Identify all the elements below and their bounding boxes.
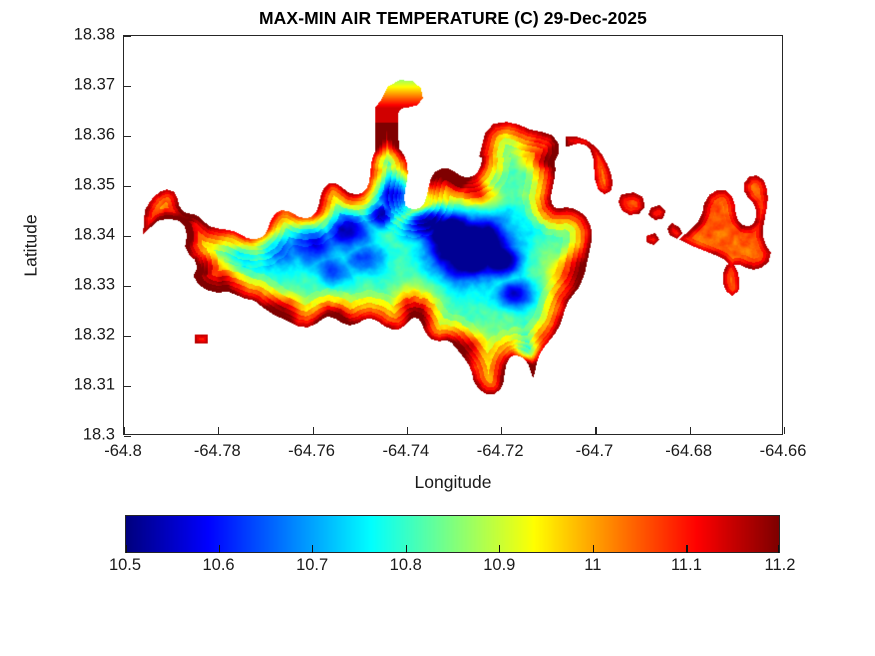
colorbar-ticklabel: 10.7	[296, 556, 328, 575]
colorbar-ticklabel: 11.2	[765, 556, 796, 575]
y-axis-tick	[124, 286, 131, 287]
x-axis-ticklabel: -64.7	[576, 442, 614, 461]
colorbar-gradient	[125, 515, 780, 553]
y-axis-ticklabel: 18.3	[10, 426, 115, 445]
page-title: MAX-MIN AIR TEMPERATURE (C) 29-Dec-2025	[123, 8, 783, 29]
x-axis-tick	[595, 427, 596, 434]
y-axis-tick	[124, 36, 131, 37]
colorbar-tick	[593, 545, 594, 553]
x-axis-ticklabels: -64.8-64.78-64.76-64.74-64.72-64.7-64.68…	[123, 442, 783, 468]
colorbar-ticklabel: 10.5	[109, 556, 141, 575]
y-axis-label: Latitude	[21, 166, 42, 326]
y-axis-ticklabel: 18.36	[10, 126, 115, 145]
y-axis-tick	[124, 86, 131, 87]
y-axis-tick	[124, 436, 131, 437]
colorbar-tick	[778, 545, 779, 553]
colorbar-ticklabels: 10.510.610.710.810.91111.111.2	[125, 556, 780, 580]
y-axis-ticklabels: 18.318.3118.3218.3318.3418.3518.3618.371…	[0, 35, 115, 435]
colorbar-ticklabel: 10.8	[390, 556, 422, 575]
x-axis-tick	[407, 427, 408, 434]
y-axis-ticklabel: 18.37	[10, 76, 115, 95]
colorbar-tick	[219, 545, 220, 553]
colorbar-ticklabel: 10.9	[483, 556, 515, 575]
x-axis-label: Longitude	[123, 472, 783, 493]
x-axis-ticklabel: -64.76	[288, 442, 335, 461]
x-axis-ticklabel: -64.8	[104, 442, 142, 461]
x-axis-tick	[690, 427, 691, 434]
figure-canvas: MAX-MIN AIR TEMPERATURE (C) 29-Dec-2025 …	[0, 0, 875, 656]
y-axis-ticklabel: 18.38	[10, 26, 115, 45]
y-axis-ticklabel: 18.32	[10, 326, 115, 345]
colorbar-tick	[686, 545, 687, 553]
colorbar[interactable]	[125, 515, 780, 553]
x-axis-tick	[501, 427, 502, 434]
x-axis-ticklabel: -64.66	[760, 442, 807, 461]
y-axis-tick	[124, 236, 131, 237]
colorbar-tick	[312, 545, 313, 553]
x-axis-tick	[313, 427, 314, 434]
x-axis-tick	[784, 427, 785, 434]
y-axis-tick	[124, 336, 131, 337]
y-axis-tick	[124, 136, 131, 137]
colorbar-ticklabel: 11.1	[671, 556, 702, 575]
x-axis-ticklabel: -64.72	[477, 442, 524, 461]
y-axis-tick	[124, 186, 131, 187]
y-axis-tick	[124, 386, 131, 387]
x-axis-ticklabel: -64.78	[194, 442, 241, 461]
x-axis-tick	[218, 427, 219, 434]
colorbar-ticklabel: 10.6	[203, 556, 235, 575]
x-axis-tick	[124, 427, 125, 434]
colorbar-tick	[499, 545, 500, 553]
temperature-heatmap	[124, 36, 782, 434]
colorbar-tick	[406, 545, 407, 553]
x-axis-ticklabel: -64.68	[665, 442, 712, 461]
x-axis-ticklabel: -64.74	[382, 442, 429, 461]
y-axis-ticklabel: 18.31	[10, 376, 115, 395]
colorbar-ticklabel: 11	[584, 556, 601, 575]
colorbar-tick	[126, 545, 127, 553]
map-axes[interactable]	[123, 35, 783, 435]
